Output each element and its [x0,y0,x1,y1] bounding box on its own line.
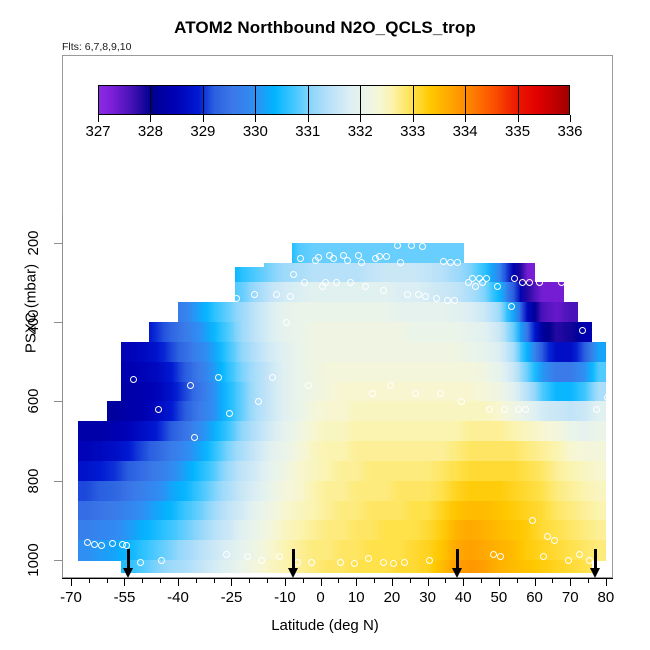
heatmap-cell [506,362,521,382]
heatmap-cell [192,302,207,322]
heatmap-cell [520,461,535,481]
heatmap-cell [292,421,307,441]
heatmap-cell [92,441,107,461]
heatmap-cell [321,302,336,322]
y-axis-tick-label: 1000 [16,551,52,569]
heatmap-cell [149,441,164,461]
x-axis-tick [178,578,179,586]
flight-marker-arrow [452,549,463,578]
heatmap-cell [449,441,464,461]
x-axis-minor-tick [338,578,339,583]
sample-marker [226,410,233,417]
heatmap-cell [492,501,507,521]
heatmap-cell [435,560,450,573]
heatmap-cell [420,302,435,322]
heatmap-cell [321,501,336,521]
heatmap-cell [221,362,236,382]
sample-marker [565,557,572,564]
heatmap-cell [549,401,564,421]
heatmap-cell [449,501,464,521]
arrow-head [452,568,462,578]
heatmap-cell [392,401,407,421]
sample-marker [308,559,315,566]
heatmap-cell [264,382,279,402]
heatmap-cell [520,362,535,382]
sample-marker [426,557,433,564]
heatmap-cell [520,322,535,342]
heatmap-cell [78,441,93,461]
sample-marker [76,374,83,381]
sample-marker [219,259,226,266]
sample-marker [251,291,258,298]
sample-marker [380,287,387,294]
sample-marker [412,390,419,397]
heatmap-cell [249,481,264,501]
heatmap-cell [535,421,550,441]
heatmap-cell [306,520,321,540]
heatmap-cell [520,441,535,461]
heatmap-cell [335,421,350,441]
heatmap-cell [535,362,550,382]
heatmap-cell [149,461,164,481]
sample-marker [551,537,558,544]
heatmap-cell [107,520,122,540]
heatmap-cell [492,481,507,501]
heatmap-cell [321,520,336,540]
heatmap-cell [335,540,350,560]
heatmap-cell [149,322,164,342]
x-axis-minor-tick [303,578,304,583]
heatmap-cell [378,421,393,441]
heatmap-cell [306,540,321,560]
sample-marker [572,271,579,278]
heatmap-cell [520,560,535,573]
heatmap-cell [563,401,578,421]
heatmap-cell [549,382,564,402]
heatmap-cell [221,461,236,481]
colorbar-tick-label: 331 [295,123,320,140]
heatmap-cell [420,401,435,421]
x-axis-tick-label: 30 [419,589,436,606]
sample-marker [191,434,198,441]
heatmap-cell [463,481,478,501]
y-axis-tick-label: 200 [16,234,52,252]
heatmap-cell [349,382,364,402]
heatmap-cell [192,401,207,421]
sample-marker [544,533,551,540]
sample-marker [355,252,362,259]
y-axis-tick-label: 400 [16,313,52,331]
heatmap-plot [71,215,613,578]
heatmap-cell [306,263,321,283]
heatmap-cell [207,421,222,441]
sample-marker [526,279,533,286]
heatmap-cell [235,267,250,283]
sample-marker [315,254,322,261]
heatmap-cell [335,382,350,402]
heatmap-cell [207,401,222,421]
heatmap-cell [463,302,478,322]
heatmap-cell [278,401,293,421]
colorbar-tick [413,115,414,122]
heatmap-cell [478,421,493,441]
heatmap-cell [535,481,550,501]
heatmap-cell [406,520,421,540]
heatmap-cell [207,560,222,573]
heatmap-cell [207,342,222,362]
heatmap-cell [135,501,150,521]
heatmap-cell [264,421,279,441]
heatmap-cell [392,441,407,461]
heatmap-cell [506,560,521,573]
heatmap-cell [563,461,578,481]
heatmap-cell [406,302,421,322]
heatmap-cell [349,401,364,421]
sample-marker [351,560,358,567]
heatmap-cell [192,461,207,481]
heatmap-cell [135,520,150,540]
heatmap-cell [535,401,550,421]
heatmap-cell [192,540,207,560]
flight-marker-arrow [123,549,134,578]
colorbar-divider [308,85,309,115]
heatmap-cell [306,362,321,382]
sample-marker [444,297,451,304]
heatmap-cell [463,540,478,560]
colorbar-tick-label: 329 [190,123,215,140]
heatmap-cell [235,401,250,421]
heatmap-cell [78,501,93,521]
heatmap-cell [221,560,236,573]
sample-marker [137,559,144,566]
heatmap-cell [192,382,207,402]
heatmap-cell [478,520,493,540]
heatmap-cell [335,461,350,481]
heatmap-cell [363,481,378,501]
heatmap-cell [121,441,136,461]
heatmap-cell [292,481,307,501]
heatmap-cell [92,461,107,481]
heatmap-cell [506,421,521,441]
heatmap-cell [121,401,136,421]
heatmap-cell [164,461,179,481]
heatmap-cell [492,382,507,402]
heatmap-cell [592,342,607,362]
heatmap-cell [435,342,450,362]
heatmap-cell [378,441,393,461]
heatmap-cell [478,302,493,322]
heatmap-cell [264,322,279,342]
heatmap-cell [107,441,122,461]
heatmap-cell [506,501,521,521]
heatmap-cell [249,520,264,540]
heatmap-cell [321,540,336,560]
heatmap-cell [535,322,550,342]
x-axis-tick [570,578,571,586]
x-axis-minor-tick [160,578,161,583]
sample-marker [394,242,401,249]
heatmap-cell [235,342,250,362]
heatmap-cell [549,302,564,322]
heatmap-cell [235,382,250,402]
heatmap-cell [321,382,336,402]
colorbar-tick-labels: 327328329330331332333334335336 [98,123,570,143]
heatmap-cell [406,421,421,441]
heatmap-cell [392,461,407,481]
heatmap-cell [321,362,336,382]
heatmap-cell [463,362,478,382]
heatmap-cell [406,481,421,501]
sample-marker [248,257,255,264]
x-axis-tick [463,578,464,586]
heatmap-cell [378,501,393,521]
heatmap-cell [178,342,193,362]
sample-marker [109,540,116,547]
heatmap-cell [164,382,179,402]
heatmap-cell [306,461,321,481]
heatmap-cell [164,322,179,342]
heatmap-cell [192,520,207,540]
heatmap-cell [78,421,93,441]
sample-marker [497,553,504,560]
heatmap-cell [406,322,421,342]
heatmap-cell [492,322,507,342]
colorbar-tick [308,115,309,122]
heatmap-cell [207,322,222,342]
x-axis-tick-label: -55 [114,589,136,606]
heatmap-cell [349,501,364,521]
heatmap-cell [392,302,407,322]
x-axis-minor-tick [267,578,268,583]
heatmap-cell [492,362,507,382]
sample-marker [276,553,283,560]
heatmap-cell [420,441,435,461]
heatmap-cell [235,560,250,573]
heatmap-cell [463,401,478,421]
heatmap-cell [506,322,521,342]
colorbar-ticks [98,115,570,122]
heatmap-cell [478,501,493,521]
colorbar-tick-label: 336 [557,123,582,140]
heatmap-cell [335,322,350,342]
heatmap-cell [321,481,336,501]
heatmap-cell [406,263,421,283]
heatmap-cell [306,342,321,362]
heatmap-cell [435,520,450,540]
x-axis-minor-tick [249,578,250,583]
heatmap-cell [463,421,478,441]
x-axis-minor-tick [374,578,375,583]
heatmap-cell [335,302,350,322]
sample-marker [287,293,294,300]
heatmap-cell [478,362,493,382]
heatmap-cell [506,441,521,461]
heatmap-cell [235,501,250,521]
heatmap-cell [592,421,607,441]
sample-marker [123,542,130,549]
x-axis-tick-label: 10 [348,589,365,606]
heatmap-cell [335,342,350,362]
x-axis-tick-label: 70 [562,589,579,606]
heatmap-cell [506,382,521,402]
heatmap-cell [178,501,193,521]
heatmap-cell [363,362,378,382]
page-title: ATOM2 Northbound N2O_QCLS_trop [0,18,650,38]
heatmap-cell [321,342,336,362]
heatmap-cell [321,560,336,573]
heatmap-cell [349,441,364,461]
heatmap-cell [178,441,193,461]
heatmap-cell [207,520,222,540]
x-axis-minor-tick [107,578,108,583]
colorbar-divider [465,85,466,115]
heatmap-cell [149,501,164,521]
heatmap-cell [249,267,264,283]
heatmap-cell [435,263,450,283]
heatmap-cell [592,520,607,540]
flights-annotation: Flts: 6,7,8,9,10 [62,41,131,53]
heatmap-cell [592,461,607,481]
heatmap-cell [378,302,393,322]
y-axis-tick [54,401,62,402]
sample-marker [376,253,383,260]
heatmap-cell [121,421,136,441]
heatmap-cell [363,342,378,362]
heatmap-cell [192,441,207,461]
heatmap-cell [577,362,592,382]
heatmap-cell [549,481,564,501]
heatmap-cell [207,501,222,521]
arrow-head [590,568,600,578]
heatmap-cell [264,342,279,362]
heatmap-cell [549,501,564,521]
heatmap-cell [135,401,150,421]
heatmap-cell [435,421,450,441]
sample-marker [223,551,230,558]
heatmap-cell [549,362,564,382]
heatmap-cell [563,362,578,382]
sample-marker [483,275,490,282]
heatmap-cell [592,481,607,501]
heatmap-cell [478,342,493,362]
heatmap-cell [592,362,607,382]
heatmap-cell [535,441,550,461]
sample-marker [522,406,529,413]
heatmap-cell [207,382,222,402]
heatmap-cell [306,302,321,322]
sample-marker [519,279,526,286]
heatmap-cell [363,401,378,421]
heatmap-cell [435,362,450,382]
heatmap-cell [235,481,250,501]
sample-marker [98,542,105,549]
heatmap-cell [207,302,222,322]
heatmap-cell [363,560,378,573]
arrow-head [123,568,133,578]
heatmap-cell [278,481,293,501]
heatmap-cell [463,461,478,481]
heatmap-cell [378,401,393,421]
heatmap-cell [135,362,150,382]
heatmap-cell [249,362,264,382]
heatmap-cell [121,501,136,521]
heatmap-cell [378,362,393,382]
sample-marker [515,406,522,413]
heatmap-cell [78,520,93,540]
heatmap-cell [178,520,193,540]
sample-marker [419,243,426,250]
heatmap-cell [249,302,264,322]
colorbar-dividers [98,85,570,115]
heatmap-cell [321,461,336,481]
x-axis-minor-tick [89,578,90,583]
heatmap-cell [563,302,578,322]
heatmap-cell [535,302,550,322]
colorbar-tick-label: 330 [243,123,268,140]
sample-marker [380,559,387,566]
heatmap-cell [463,342,478,362]
heatmap-cell [164,481,179,501]
heatmap-cell [392,540,407,560]
heatmap-cell [349,342,364,362]
heatmap-cell [349,520,364,540]
sample-marker [283,319,290,326]
heatmap-cell [92,421,107,441]
sample-marker [273,291,280,298]
heatmap-cell [577,481,592,501]
sample-marker [183,263,190,270]
heatmap-cell [563,501,578,521]
heatmap-cell [563,322,578,342]
heatmap-cell [563,481,578,501]
heatmap-cell [392,322,407,342]
heatmap-cell [406,362,421,382]
heatmap-cell [577,342,592,362]
heatmap-cell [321,322,336,342]
heatmap-cell [506,282,521,302]
heatmap-cell [492,441,507,461]
heatmap-cell [577,441,592,461]
x-axis-minor-tick [552,578,553,583]
x-axis-tick-label: -25 [221,589,243,606]
heatmap-cell [420,263,435,283]
colorbar-tick [255,115,256,122]
heatmap-cell [549,441,564,461]
heatmap-cell [135,382,150,402]
heatmap-cell [278,382,293,402]
heatmap-cell [92,520,107,540]
x-axis-tick [321,578,322,586]
heatmap-cell [306,401,321,421]
heatmap-cell [563,421,578,441]
heatmap-cell [535,382,550,402]
sample-marker [601,303,608,310]
heatmap-cell [392,362,407,382]
sample-marker [576,551,583,558]
heatmap-cell [149,421,164,441]
x-axis-minor-tick [481,578,482,583]
sample-marker [262,251,269,258]
heatmap-cell [264,263,279,283]
sample-marker [205,259,212,266]
colorbar-tick-label: 328 [138,123,163,140]
sample-marker [91,541,98,548]
heatmap-cell [563,382,578,402]
heatmap-cell [506,481,521,501]
heatmap-cell [478,322,493,342]
heatmap-cell [178,401,193,421]
heatmap-cell [406,501,421,521]
